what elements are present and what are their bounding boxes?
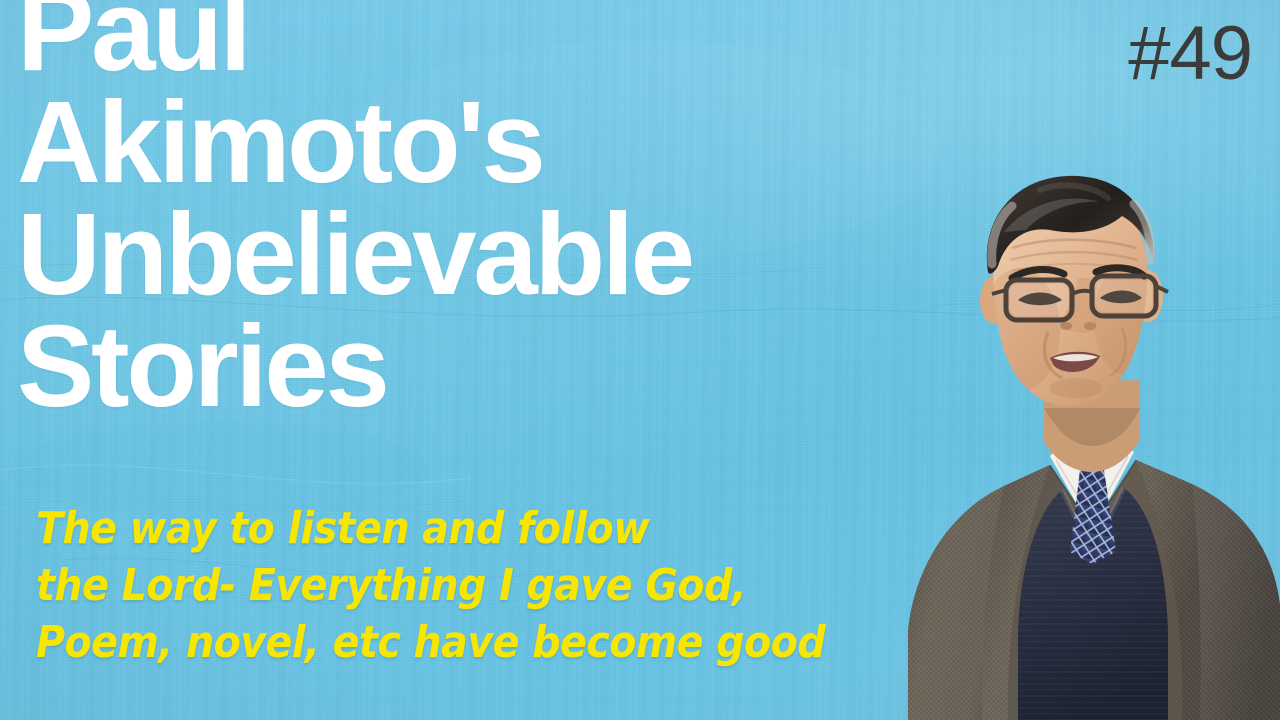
subtitle-line-2: the Lord- Everything I gave God, bbox=[36, 557, 825, 614]
video-thumbnail: Paul Akimoto's Unbelievable Stories The … bbox=[0, 0, 1280, 720]
episode-number: #49 bbox=[1128, 16, 1252, 92]
show-title: Paul Akimoto's Unbelievable Stories bbox=[17, 0, 692, 422]
title-line-4: Stories bbox=[17, 310, 692, 422]
subtitle-line-3: Poem, novel, etc have become good bbox=[36, 614, 825, 671]
episode-subtitle: The way to listen and follow the Lord- E… bbox=[36, 500, 913, 671]
host-portrait bbox=[900, 160, 1280, 720]
title-line-3: Unbelievable bbox=[17, 198, 692, 310]
title-line-2: Akimoto's bbox=[17, 86, 692, 198]
portrait-head bbox=[980, 176, 1168, 406]
portrait-body bbox=[908, 438, 1280, 720]
title-line-1: Paul bbox=[17, 0, 692, 86]
subtitle-line-1: The way to listen and follow bbox=[36, 500, 825, 557]
